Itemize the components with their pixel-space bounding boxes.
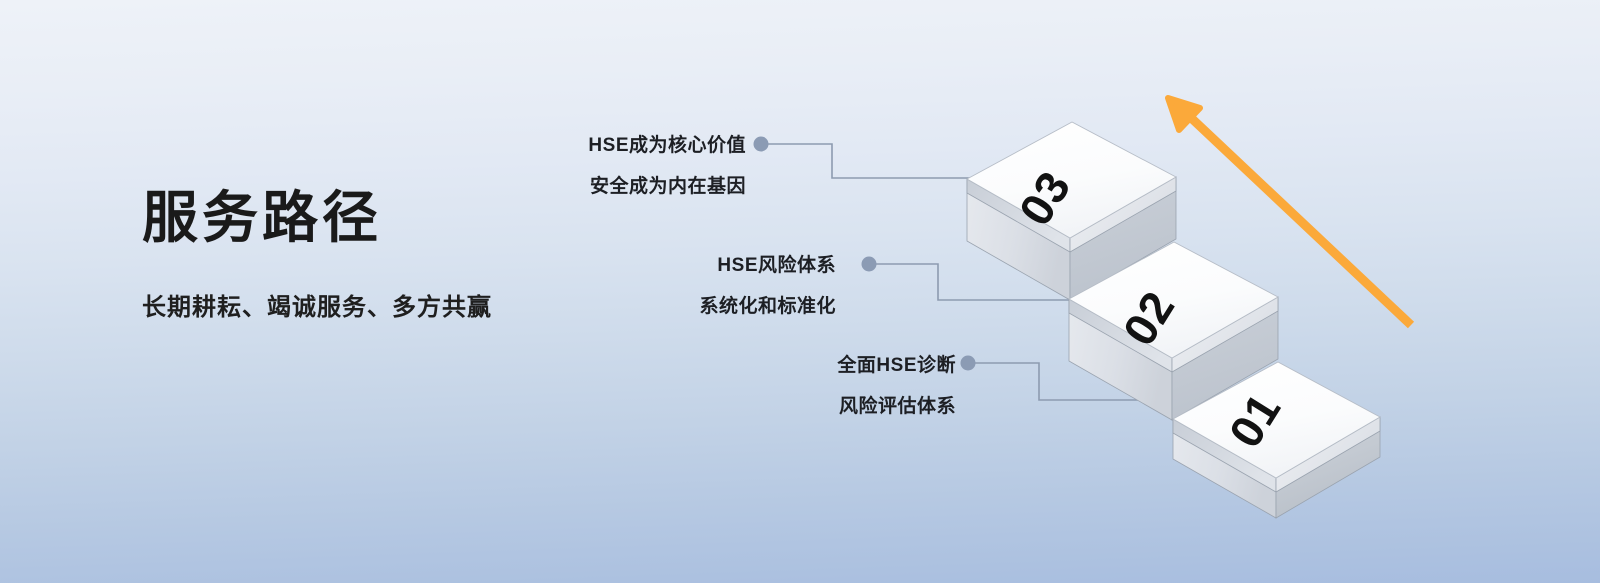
connector-03: [754, 137, 976, 179]
connector-02-dot: [862, 257, 877, 272]
service-path-infographic: 服务路径 长期耕耘、竭诚服务、多方共赢 HSE成为核心价值 安全成为内在基因 H…: [0, 0, 1600, 583]
connector-03-dot: [754, 137, 769, 152]
connector-01-dot: [961, 356, 976, 371]
connector-03-line: [768, 144, 975, 178]
isometric-staircase-graphic: 03 02 01: [0, 0, 1600, 583]
